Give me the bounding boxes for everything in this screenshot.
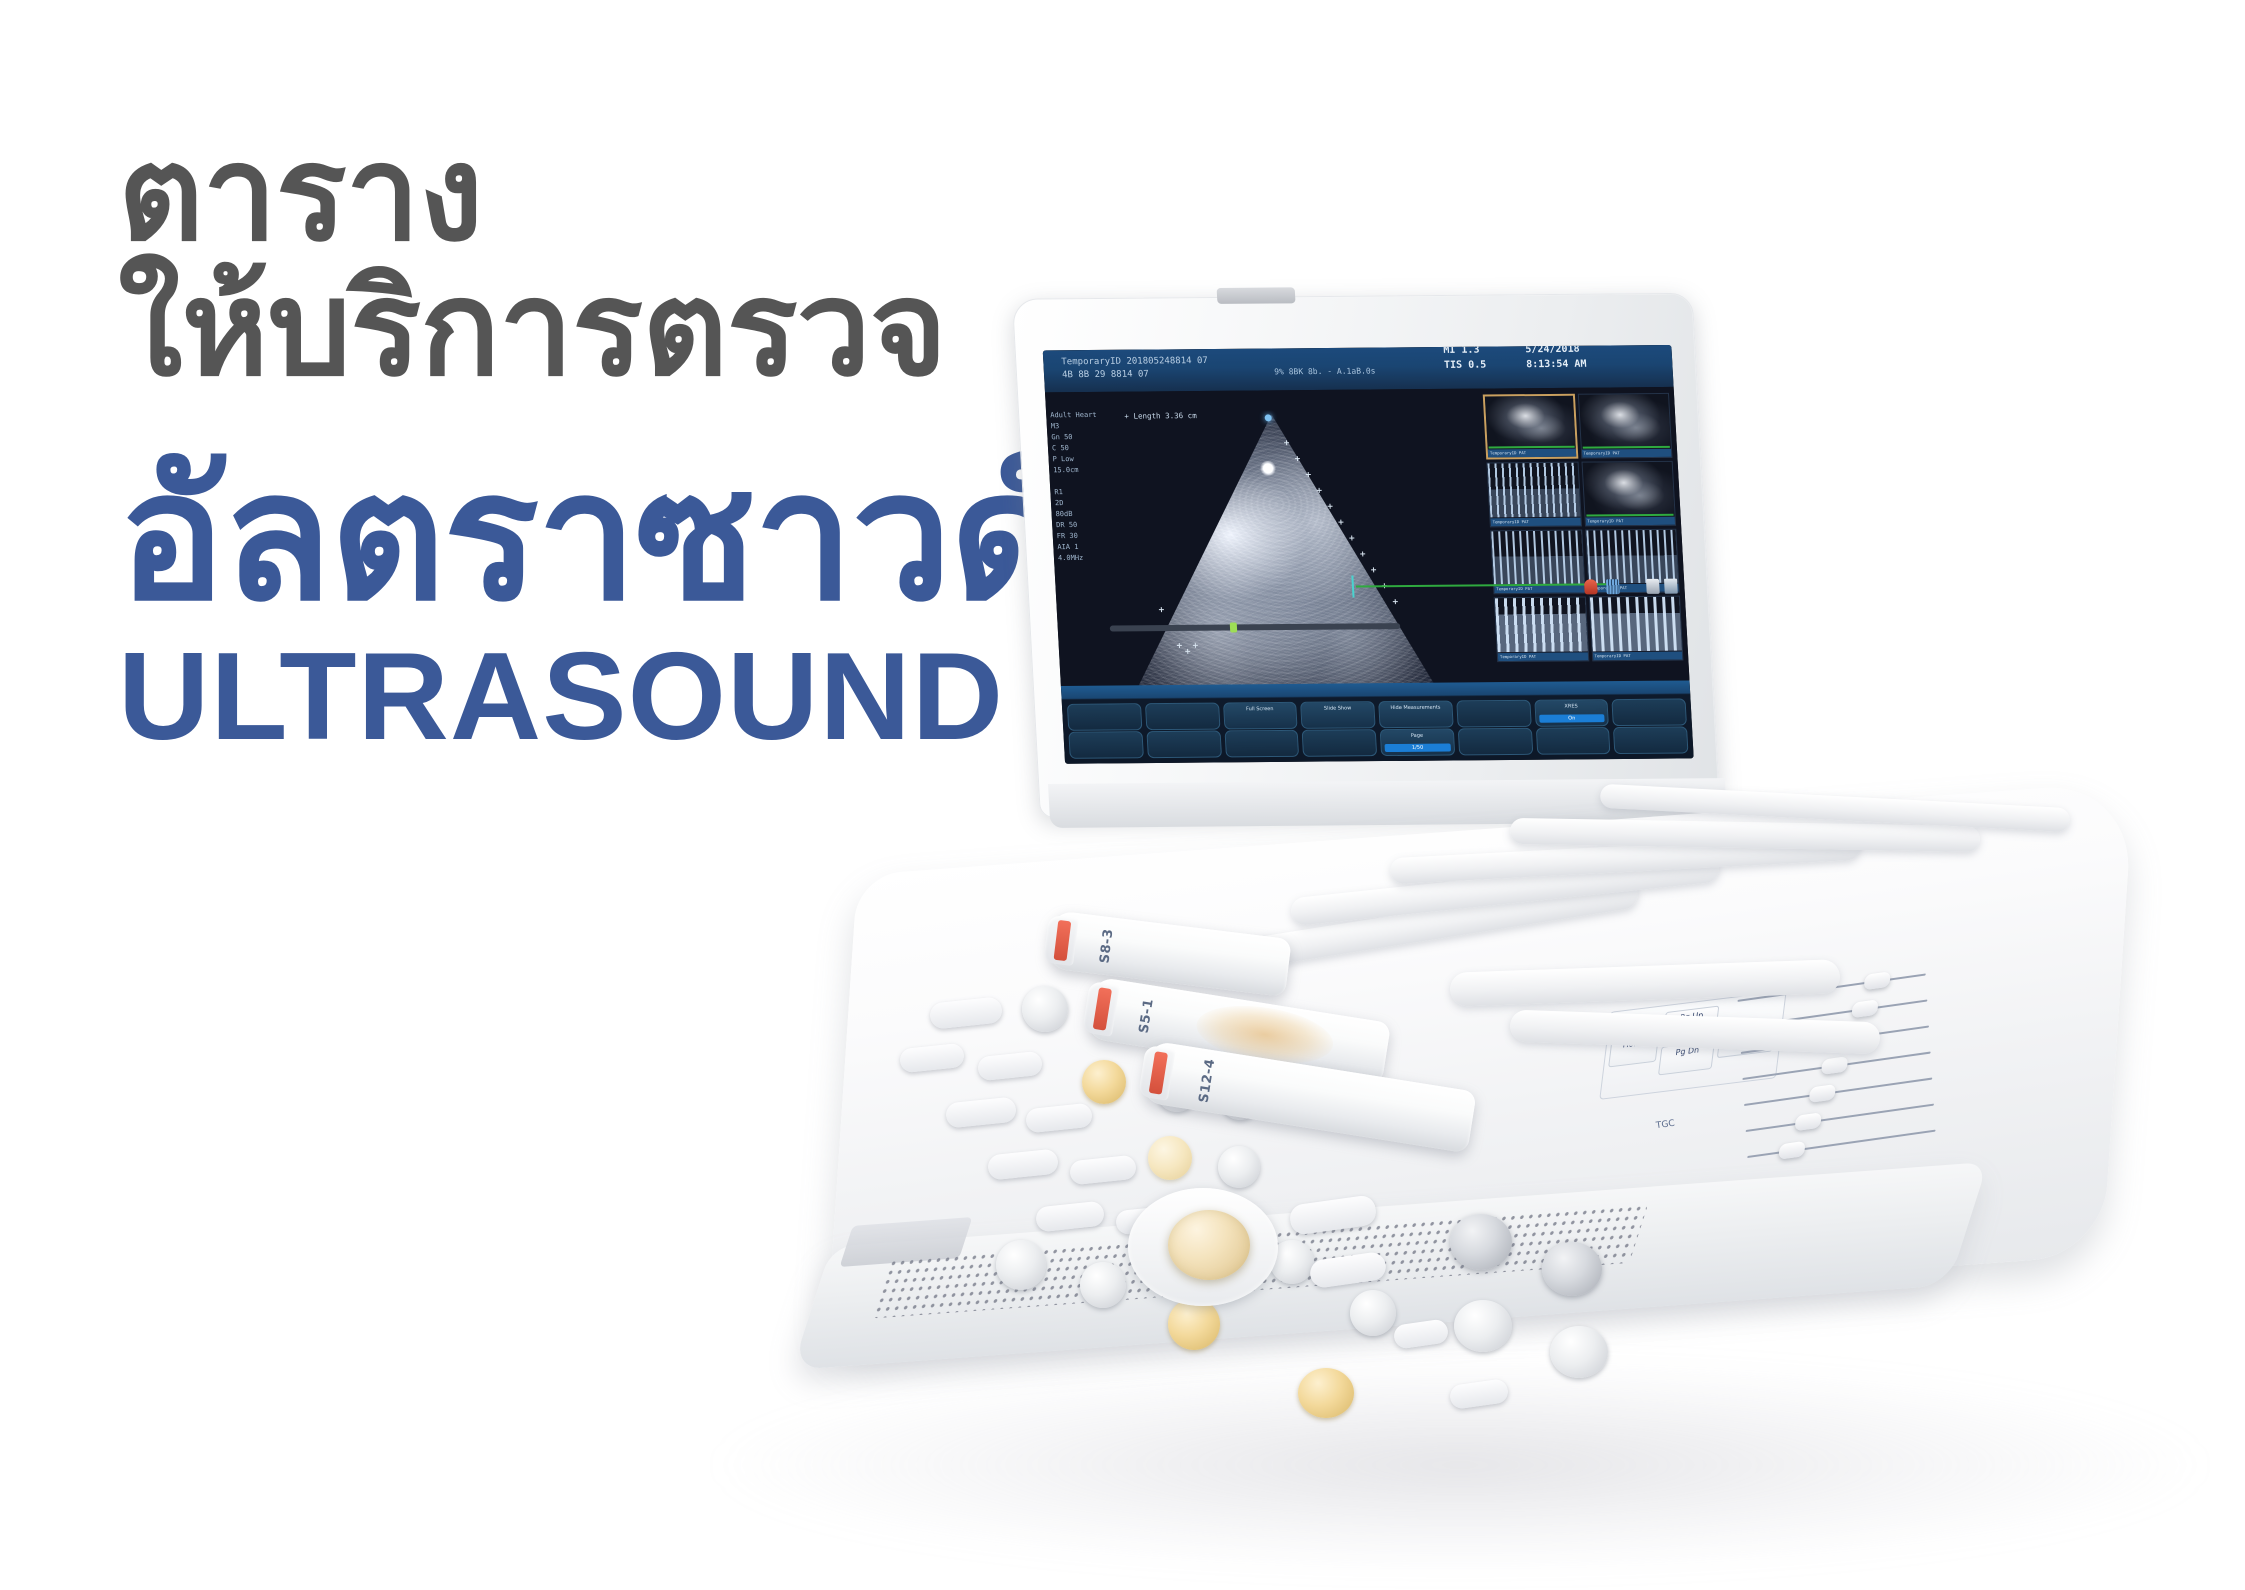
softkey-button-page[interactable]: Page1/50 bbox=[1380, 728, 1455, 756]
panel-knob-gold[interactable] bbox=[1148, 1136, 1192, 1180]
softkey-button[interactable] bbox=[1612, 698, 1687, 726]
thumbnail-item[interactable]: TemporaryID PAT bbox=[1483, 394, 1578, 459]
panel-knob[interactable] bbox=[1450, 1214, 1512, 1270]
panel-knob[interactable] bbox=[1454, 1300, 1512, 1352]
screen-softkey-bar[interactable]: Full Screen Slide Show Hide Measurements… bbox=[1061, 680, 1694, 763]
softkey-button[interactable] bbox=[1302, 729, 1377, 757]
softkey-button[interactable] bbox=[1613, 726, 1688, 754]
probe-settings-text: 9% 8BK 8b. - A.1aB.0s bbox=[1274, 367, 1376, 377]
thumbnail-item[interactable]: TemporaryID PAT bbox=[1577, 393, 1672, 458]
ultrasound-display[interactable]: TemporaryID 201805248814 07 4B 8B 29 881… bbox=[1043, 345, 1694, 764]
alert-icon[interactable] bbox=[1584, 579, 1598, 594]
softkey-row-1[interactable]: Full Screen Slide Show Hide Measurements… bbox=[1062, 698, 1692, 730]
poster-canvas: ตาราง ให้บริการตรวจ อัลตราซาวด์ ULTRASOU… bbox=[0, 0, 2245, 1587]
acoustic-output-text: MI 1.3 TIS 0.5 bbox=[1443, 345, 1487, 373]
tgc-slider-handle[interactable] bbox=[1864, 971, 1891, 990]
panel-knob[interactable] bbox=[1022, 986, 1068, 1032]
panel-knob[interactable] bbox=[1550, 1326, 1608, 1378]
panel-knob-gold[interactable] bbox=[1082, 1060, 1126, 1104]
thumbnail-strip[interactable]: TemporaryID PAT TemporaryID PAT Temporar… bbox=[1483, 393, 1684, 662]
report-icon[interactable] bbox=[1664, 579, 1678, 594]
monitor-latch bbox=[1217, 287, 1296, 304]
softkey-button[interactable] bbox=[1067, 703, 1142, 731]
tgc-slider-handle[interactable] bbox=[1821, 1056, 1848, 1075]
panel-knob-gold[interactable] bbox=[1298, 1368, 1354, 1418]
softkey-button[interactable] bbox=[1146, 731, 1221, 759]
lock-icon[interactable] bbox=[1646, 579, 1660, 594]
softkey-button[interactable]: Slide Show bbox=[1300, 701, 1375, 729]
softkey-button[interactable] bbox=[1456, 700, 1531, 728]
thumbnail-item[interactable]: TemporaryID PAT bbox=[1494, 597, 1589, 662]
softkey-button[interactable] bbox=[1224, 730, 1299, 758]
thumbnail-item[interactable]: TemporaryID PAT bbox=[1486, 461, 1581, 526]
panel-knob[interactable] bbox=[1542, 1242, 1602, 1296]
patient-id-text: TemporaryID 201805248814 07 4B 8B 29 881… bbox=[1061, 355, 1209, 382]
softkey-row-2[interactable]: Page1/50 bbox=[1063, 726, 1693, 758]
panel-knob-gold[interactable] bbox=[1168, 1298, 1220, 1350]
status-icon-tray[interactable] bbox=[1506, 579, 1677, 598]
tgc-slider-handle[interactable] bbox=[1809, 1084, 1836, 1103]
softkey-button[interactable]: Hide Measurements bbox=[1378, 701, 1453, 729]
tgc-slider-handle[interactable] bbox=[1851, 999, 1878, 1018]
screen-top-status-bar: TemporaryID 201805248814 07 4B 8B 29 881… bbox=[1043, 345, 1674, 392]
panel-knob[interactable] bbox=[1080, 1262, 1126, 1308]
panel-knob[interactable] bbox=[1350, 1290, 1396, 1336]
softkey-button-xres[interactable]: XRESOn bbox=[1534, 699, 1609, 727]
thumbnail-item[interactable]: TemporaryID PAT bbox=[1588, 596, 1683, 661]
softkey-button[interactable] bbox=[1535, 727, 1610, 755]
trackball[interactable] bbox=[1168, 1210, 1250, 1280]
panel-knob[interactable] bbox=[1218, 1146, 1260, 1188]
panel-button[interactable] bbox=[1449, 1378, 1510, 1410]
softkey-button[interactable] bbox=[1145, 703, 1220, 731]
thumbnail-item[interactable]: TemporaryID PAT bbox=[1581, 461, 1676, 526]
tgc-slider-handle[interactable] bbox=[1778, 1141, 1805, 1160]
headline-line-1: ตาราง bbox=[118, 128, 1298, 260]
datetime-text: 5/24/2018 8:13:54 AM bbox=[1525, 345, 1587, 372]
monitor: TemporaryID 201805248814 07 4B 8B 29 881… bbox=[1012, 293, 1721, 818]
softkey-button[interactable]: Full Screen bbox=[1223, 702, 1298, 730]
screen-imaging-area: Adult HeartM3Gn 50C 50P Low15.0cmR12D80d… bbox=[1045, 387, 1690, 686]
panel-knob[interactable] bbox=[996, 1240, 1046, 1290]
control-panel-base: Home Pg Up Pg Dn Enter bbox=[750, 770, 2230, 1470]
ultrasound-machine: TemporaryID 201805248814 07 4B 8B 29 881… bbox=[880, 330, 2245, 1590]
trash-icon[interactable] bbox=[1606, 579, 1620, 594]
caliper-trace bbox=[1106, 409, 1451, 691]
softkey-button[interactable] bbox=[1458, 728, 1533, 756]
tgc-slider-handle[interactable] bbox=[1795, 1112, 1822, 1131]
softkey-button[interactable] bbox=[1068, 731, 1143, 759]
sector-image-container bbox=[1106, 409, 1451, 691]
